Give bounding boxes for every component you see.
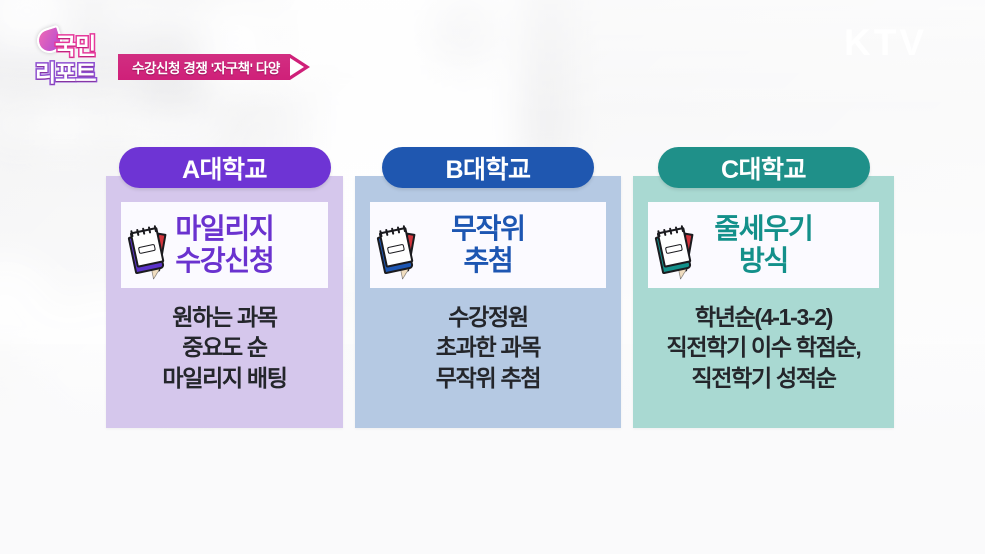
card-b: B대학교 무작위 추첨 수강정원 초과한 과목 무작위 추첨 — [355, 176, 621, 428]
card-a-title-panel: 마일리지 수강신청 — [121, 202, 328, 288]
headline-banner: 수강신청 경쟁 '자구책' 다양 — [118, 54, 310, 80]
card-b-description: 수강정원 초과한 과목 무작위 추첨 — [361, 302, 615, 393]
card-a: A대학교 마일리지 수강신청 원하는 과목 중요도 순 마일리지 배팅 — [106, 176, 343, 428]
notebook-pencil-icon — [649, 221, 712, 281]
card-a-pill-label: A대학교 — [119, 147, 331, 188]
notebook-pencil-icon — [371, 221, 434, 281]
card-c: C대학교 줄세우기 방식 학년순(4-1-3-2) 직전학기 이수 학점순, 직… — [633, 176, 894, 428]
card-b-pill-label: B대학교 — [382, 147, 594, 188]
card-c-title: 줄세우기 방식 — [714, 213, 812, 277]
card-c-pill-label: C대학교 — [658, 147, 870, 188]
headline-arrow-icon — [290, 54, 310, 80]
broadcast-graphic: KTV 국민 리포트 수강신청 경쟁 '자구책' 다양 A대학교 — [0, 0, 985, 554]
headline-text: 수강신청 경쟁 '자구책' 다양 — [118, 54, 290, 80]
card-c-title-panel: 줄세우기 방식 — [648, 202, 879, 288]
program-logo-line2: 리포트 — [35, 54, 95, 88]
program-logo: 국민 리포트 — [35, 27, 133, 84]
card-a-title: 마일리지 수강신청 — [175, 213, 273, 277]
card-a-description: 원하는 과목 중요도 순 마일리지 배팅 — [112, 302, 337, 393]
comparison-cards: A대학교 마일리지 수강신청 원하는 과목 중요도 순 마일리지 배팅 B대학교 — [0, 0, 985, 554]
card-b-title-panel: 무작위 추첨 — [370, 202, 606, 288]
card-b-title: 무작위 추첨 — [451, 213, 525, 277]
card-c-description: 학년순(4-1-3-2) 직전학기 이수 학점순, 직전학기 성적순 — [639, 302, 888, 393]
